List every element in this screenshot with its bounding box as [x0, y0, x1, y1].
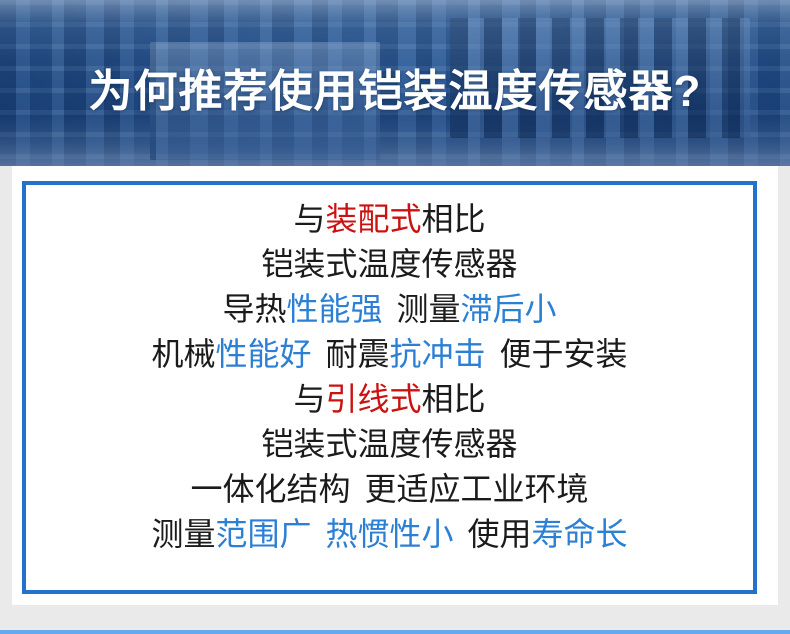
text-segment-red: 装配式 — [325, 201, 421, 237]
feature-line: 机械性能好耐震抗冲击便于安装 — [26, 332, 753, 377]
text-segment-blue: 抗冲击 — [390, 336, 486, 372]
text-segment-black: 使用 — [468, 516, 532, 552]
text-segment-blue: 性能好 — [215, 336, 311, 372]
feature-line-list: 与装配式相比铠装式温度传感器导热性能强测量滞后小机械性能好耐震抗冲击便于安装与引… — [26, 197, 753, 557]
text-segment-blue: 热惯性小 — [325, 516, 453, 552]
feature-line: 铠装式温度传感器 — [26, 242, 753, 287]
text-segment-black: 更适应工业环境 — [365, 471, 589, 507]
text-segment-black: 便于安装 — [500, 336, 628, 372]
text-segment-black: 铠装式温度传感器 — [261, 426, 517, 462]
text-segment-black: 相比 — [422, 201, 486, 237]
feature-line: 导热性能强测量滞后小 — [26, 287, 753, 332]
feature-line: 一体化结构更适应工业环境 — [26, 467, 753, 512]
text-segment-blue: 范围广 — [215, 516, 311, 552]
bottom-blue-accent-strip — [0, 630, 790, 634]
hero-banner: 为何推荐使用铠装温度传感器? — [0, 0, 790, 166]
text-segment-black: 机械 — [151, 336, 215, 372]
text-segment-blue: 滞后小 — [461, 291, 557, 327]
text-segment-black: 耐震 — [325, 336, 389, 372]
feature-line: 与装配式相比 — [26, 197, 753, 242]
text-segment-blue: 寿命长 — [532, 516, 628, 552]
feature-text-box: 与装配式相比铠装式温度传感器导热性能强测量滞后小机械性能好耐震抗冲击便于安装与引… — [22, 181, 757, 594]
text-segment-black: 铠装式温度传感器 — [261, 246, 517, 282]
product-detail-page: 为何推荐使用铠装温度传感器? 与装配式相比铠装式温度传感器导热性能强测量滞后小机… — [0, 0, 790, 634]
text-segment-black: 与 — [293, 381, 325, 417]
text-segment-black: 相比 — [422, 381, 486, 417]
page-title: 为何推荐使用铠装温度传感器? — [0, 66, 790, 118]
text-segment-black: 与 — [293, 201, 325, 237]
text-segment-black: 测量 — [397, 291, 461, 327]
feature-line: 测量范围广热惯性小使用寿命长 — [26, 512, 753, 557]
text-segment-black: 导热 — [222, 291, 286, 327]
feature-line: 与引线式相比 — [26, 377, 753, 422]
text-segment-black: 一体化结构 — [190, 471, 350, 507]
text-segment-black: 测量 — [151, 516, 215, 552]
text-segment-blue: 性能强 — [286, 291, 382, 327]
feature-line: 铠装式温度传感器 — [26, 422, 753, 467]
text-segment-red: 引线式 — [325, 381, 421, 417]
bottom-gray-strip — [0, 605, 790, 630]
